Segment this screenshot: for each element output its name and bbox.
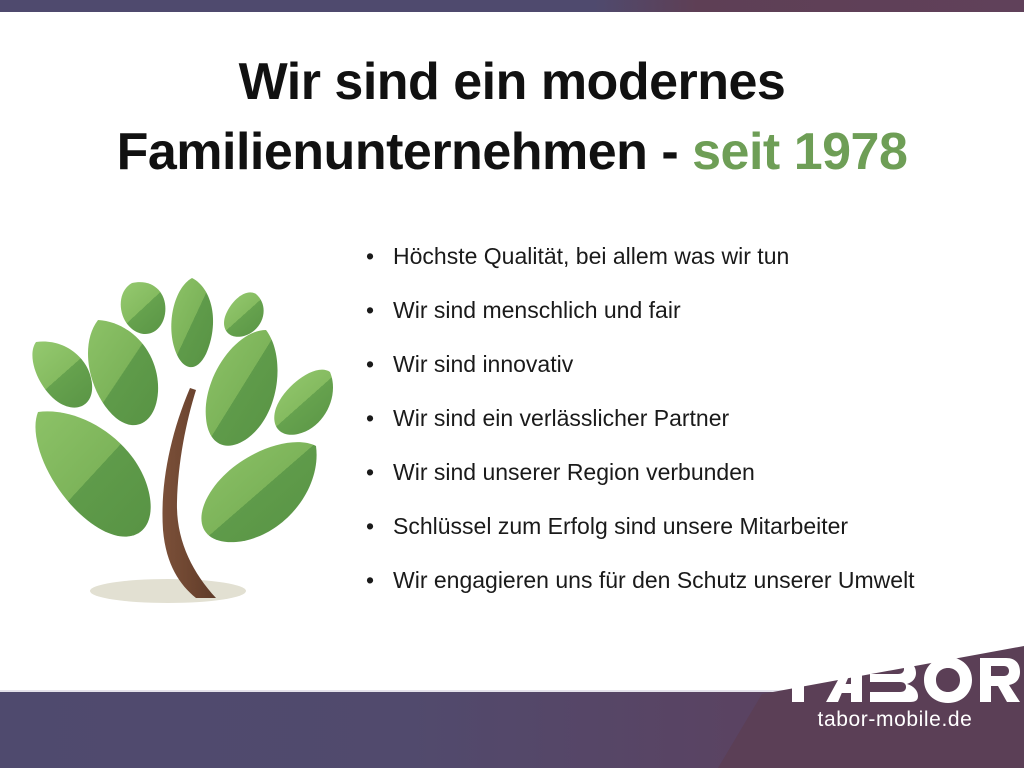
leaf-far-right <box>274 370 333 435</box>
leaf-mid-left <box>88 320 158 425</box>
list-item-label: Wir engagieren uns für den Schutz unsere… <box>393 567 915 594</box>
leaf-top-center <box>171 278 213 367</box>
tree-shadow <box>90 579 246 603</box>
list-item-label: Wir sind ein verlässlicher Partner <box>393 405 729 432</box>
top-brand-band <box>0 0 1024 12</box>
bullet-point-icon: • <box>366 513 393 540</box>
list-item-label: Wir sind unserer Region verbunden <box>393 459 755 486</box>
tree-logo-illustration <box>20 250 350 610</box>
bullet-point-icon: • <box>366 405 393 432</box>
list-item: • Wir engagieren uns für den Schutz unse… <box>366 567 1016 621</box>
slide-canvas: Wir sind ein modernes Familienunternehme… <box>0 0 1024 768</box>
bullet-point-icon: • <box>366 459 393 486</box>
list-item-label: Schlüssel zum Erfolg sind unsere Mitarbe… <box>393 513 848 540</box>
bullet-point-icon: • <box>366 567 393 594</box>
headline-line-1: Wir sind ein modernes <box>0 48 1024 118</box>
page-title: Wir sind ein modernes Familienunternehme… <box>0 48 1024 187</box>
leaf-mid-right <box>206 330 278 446</box>
logo-url-label: tabor-mobile.de <box>770 708 1020 732</box>
headline-accent: seit 1978 <box>692 123 907 181</box>
list-item: • Wir sind menschlich und fair <box>366 297 1016 351</box>
bullet-point-icon: • <box>366 351 393 378</box>
value-proposition-list: • Höchste Qualität, bei allem was wir tu… <box>366 243 1016 621</box>
list-item-label: Höchste Qualität, bei allem was wir tun <box>393 243 789 270</box>
list-item: • Höchste Qualität, bei allem was wir tu… <box>366 243 1016 297</box>
brand-logo-panel: tabor-mobile.de <box>700 640 1024 768</box>
list-item: • Wir sind ein verlässlicher Partner <box>366 405 1016 459</box>
list-item: • Schlüssel zum Erfolg sind unsere Mitar… <box>366 513 1016 567</box>
leaf-top-right <box>224 292 264 336</box>
headline-line-2-main: Familienunternehmen - <box>117 123 693 181</box>
leaf-lower-right <box>201 442 316 542</box>
bullet-point-icon: • <box>366 297 393 324</box>
leaf-lower-left <box>35 411 150 536</box>
tabor-wordmark-icon <box>770 652 1020 704</box>
list-item-label: Wir sind menschlich und fair <box>393 297 681 324</box>
leaf-top-left <box>121 282 166 334</box>
bullet-point-icon: • <box>366 243 393 270</box>
leaf-far-left <box>32 341 92 407</box>
list-item: • Wir sind innovativ <box>366 351 1016 405</box>
headline-line-2: Familienunternehmen - seit 1978 <box>0 118 1024 188</box>
list-item-label: Wir sind innovativ <box>393 351 573 378</box>
list-item: • Wir sind unserer Region verbunden <box>366 459 1016 513</box>
